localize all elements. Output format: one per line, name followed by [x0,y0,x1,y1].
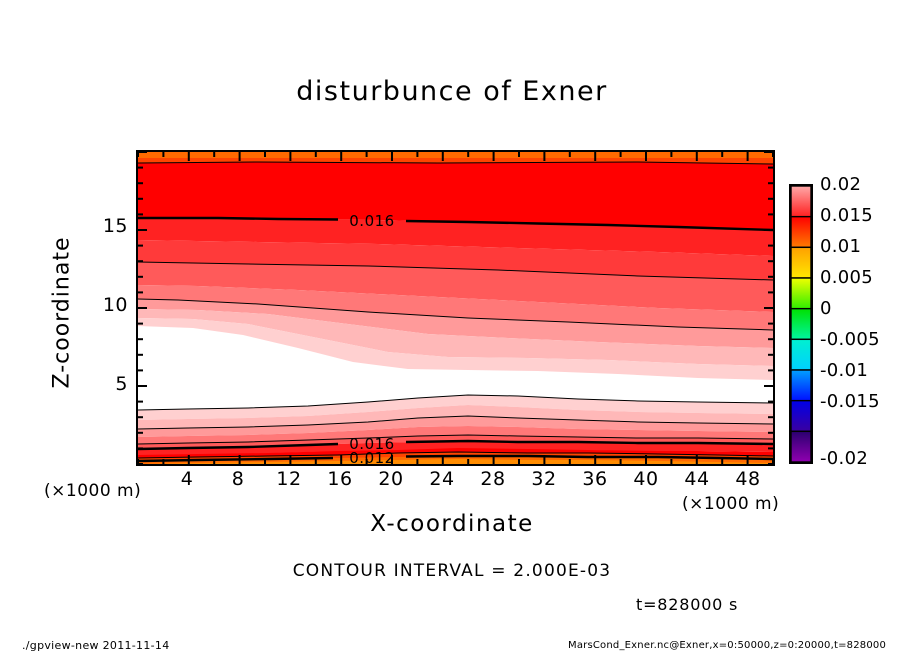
xtick-label-28: 28 [473,468,513,490]
colorbar-tick-2: 0.01 [820,236,861,257]
time-label: t=828000 s [636,595,738,614]
colorbar-tick-8: -0.02 [820,448,868,469]
colorbar-tick-5: -0.005 [820,329,880,350]
footer-source: MarsCond_Exner.nc@Exner,x=0:50000,z=0:20… [568,640,886,651]
xtick-label-48: 48 [728,468,768,490]
ytick-label-5: 5 [92,373,128,395]
colorbar-tick-3: 0.005 [820,267,873,288]
colorbar[interactable] [789,184,813,464]
xtick-label-24: 24 [422,468,462,490]
colorbar-tick-1: 0.015 [820,205,873,226]
contour-interval-note: CONTOUR INTERVAL = 2.000E-03 [0,561,904,581]
xtick-label-32: 32 [524,468,564,490]
xtick-label-4: 4 [167,468,207,490]
x-axis-label: X-coordinate [0,511,904,537]
colorbar-band [791,217,811,248]
contour-fill-group [138,152,773,464]
colorbar-band [791,339,811,370]
contour-label-upper: 0.016 [349,212,394,230]
contour-plot-area: 0.016 0.016 0.012 [136,150,775,466]
colorbar-tick-4: 0 [820,298,832,319]
ytick-label-15: 15 [92,215,128,237]
colorbar-tick-7: -0.015 [820,391,880,412]
colorbar-band [791,278,811,309]
colorbar-tick-0: 0.02 [820,174,861,195]
x-axis-unit: (×1000 m) [682,494,779,514]
xtick-label-8: 8 [218,468,258,490]
xtick-label-40: 40 [626,468,666,490]
ytick-label-10: 10 [92,294,128,316]
colorbar-gradient [791,186,811,462]
contour-canvas: 0.016 0.016 0.012 [138,152,773,464]
xtick-label-12: 12 [269,468,309,490]
colorbar-band [791,370,811,401]
colorbar-band [791,309,811,340]
xtick-label-36: 36 [575,468,615,490]
colorbar-tick-6: -0.01 [820,360,868,381]
contour-label-lower-012: 0.012 [349,449,394,464]
xtick-label-20: 20 [371,468,411,490]
colorbar-band [791,401,811,432]
colorbar-band [791,247,811,278]
page-title: disturbunce of Exner [0,76,904,107]
footer-command: ./gpview-new 2011-11-14 [22,639,170,652]
xtick-label-44: 44 [677,468,717,490]
y-axis-unit: (×1000 m) [44,481,141,501]
colorbar-band [791,431,811,462]
colorbar-band [791,186,811,217]
y-axis-label: Z-coordinate [50,213,75,413]
xtick-label-16: 16 [320,468,360,490]
